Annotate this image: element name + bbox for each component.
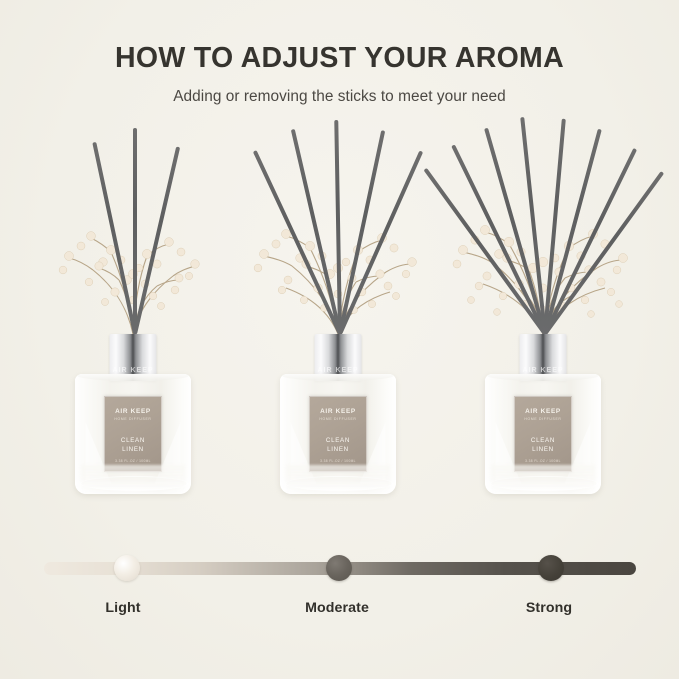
slider-label-moderate: Moderate	[305, 600, 369, 616]
slider-knob-strong[interactable]	[538, 555, 564, 581]
label-scent-line1: CLEAN	[515, 436, 571, 445]
reed-arrangement-light	[33, 110, 233, 334]
header: HOW TO ADJUST YOUR AROMA Adding or remov…	[0, 44, 679, 106]
page-title: HOW TO ADJUST YOUR AROMA	[0, 44, 679, 74]
intensity-slider[interactable]: Light Moderate Strong	[0, 552, 679, 632]
label-scent-line2: LINEN	[310, 445, 366, 454]
slider-knob-moderate[interactable]	[326, 555, 352, 581]
promo-graphic: HOW TO ADJUST YOUR AROMA Adding or remov…	[0, 0, 679, 679]
label-scent-line1: CLEAN	[105, 436, 161, 445]
label-scent-line1: CLEAN	[310, 436, 366, 445]
bottle-reflection	[286, 465, 390, 495]
bottle-label: AIR KEEP HOME DIFFUSER CLEAN LINEN 3.38 …	[309, 396, 367, 472]
diffuser-bottle: AIR KEEP AIR KEEP HOME DIFFUSER CLEAN LI…	[75, 334, 191, 494]
label-brand: AIR KEEP	[515, 408, 571, 415]
label-scent-line2: LINEN	[105, 445, 161, 454]
label-brand-sub: HOME DIFFUSER	[310, 417, 366, 421]
label-brand: AIR KEEP	[310, 408, 366, 415]
diffuser-bottle: AIR KEEP AIR KEEP HOME DIFFUSER CLEAN LI…	[485, 334, 601, 494]
label-brand: AIR KEEP	[105, 408, 161, 415]
label-brand-sub: HOME DIFFUSER	[515, 417, 571, 421]
light-bottle: AIR KEEP AIR KEEP HOME DIFFUSER CLEAN LI…	[33, 110, 233, 520]
reed-arrangement-strong	[443, 110, 643, 334]
label-volume: 3.38 FL.OZ / 100ML	[310, 459, 366, 463]
label-brand-sub: HOME DIFFUSER	[105, 417, 161, 421]
collar-emboss-text: AIR KEEP	[110, 367, 157, 374]
product-row: AIR KEEP AIR KEEP HOME DIFFUSER CLEAN LI…	[0, 110, 679, 520]
slider-label-strong: Strong	[526, 600, 572, 616]
reed-arrangement-moderate	[238, 110, 438, 334]
strong-bottle: AIR KEEP AIR KEEP HOME DIFFUSER CLEAN LI…	[443, 110, 643, 520]
collar-emboss-text: AIR KEEP	[315, 367, 362, 374]
reed-stick	[133, 128, 137, 334]
slider-knob-light[interactable]	[114, 555, 140, 581]
label-volume: 3.38 FL.OZ / 100ML	[105, 459, 161, 463]
diffuser-bottle: AIR KEEP AIR KEEP HOME DIFFUSER CLEAN LI…	[280, 334, 396, 494]
label-scent-line2: LINEN	[515, 445, 571, 454]
bottle-reflection	[81, 465, 185, 495]
collar-emboss-text: AIR KEEP	[520, 367, 567, 374]
slider-label-light: Light	[105, 600, 140, 616]
moderate-bottle: AIR KEEP AIR KEEP HOME DIFFUSER CLEAN LI…	[238, 110, 438, 520]
bottle-reflection	[491, 465, 595, 495]
label-volume: 3.38 FL.OZ / 100ML	[515, 459, 571, 463]
slider-labels: Light Moderate Strong	[0, 600, 679, 624]
page-subtitle: Adding or removing the sticks to meet yo…	[0, 88, 679, 106]
bottle-label: AIR KEEP HOME DIFFUSER CLEAN LINEN 3.38 …	[514, 396, 572, 472]
bottle-label: AIR KEEP HOME DIFFUSER CLEAN LINEN 3.38 …	[104, 396, 162, 472]
